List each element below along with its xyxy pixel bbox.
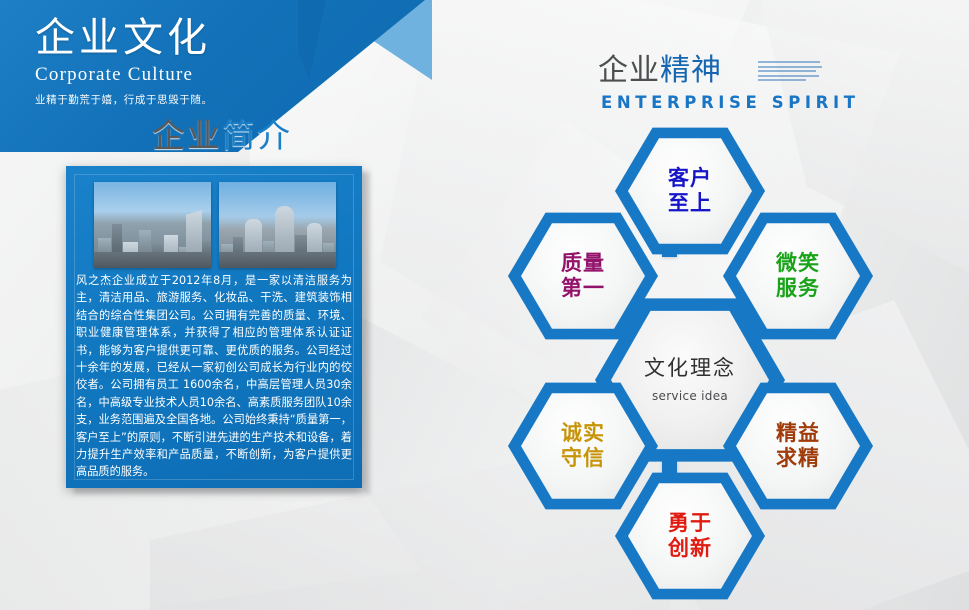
hex-upper-left-line1: 质量 — [561, 251, 605, 276]
hex-lower-right-line2: 求精 — [776, 446, 820, 471]
cityscape-photo-2 — [219, 182, 336, 268]
hex-bottom-line1: 勇于 — [668, 511, 712, 536]
corporate-culture-poster: 企业文化 Corporate Culture 业精于勤荒于嬉，行成于思毁于随。 … — [0, 0, 969, 610]
intro-title-prefix: 企业 — [152, 116, 222, 155]
hex-upper-left-line2: 第一 — [561, 276, 605, 301]
cityscape-photo-1 — [94, 182, 211, 268]
decorative-lines-icon — [758, 58, 824, 84]
hex-lower-left-line1: 诚实 — [561, 421, 605, 446]
header-title-cn: 企业文化 — [35, 14, 335, 62]
hex-node-upper-left[interactable]: 质量 第一 — [508, 210, 658, 342]
intro-body-text: 风之杰企业成立于2012年8月，是一家以清洁服务为主，清洁用品、旅游服务、化妆品… — [76, 272, 352, 481]
intro-title-suffix: 简介 — [222, 116, 292, 155]
intro-section-title: 企业简介 — [152, 116, 292, 156]
hex-center-label-cn: 文化理念 — [644, 355, 736, 381]
header-text-block: 企业文化 Corporate Culture 业精于勤荒于嬉，行成于思毁于随。 — [35, 14, 335, 107]
hex-node-bottom[interactable]: 勇于 创新 — [615, 470, 765, 602]
header-title-en: Corporate Culture — [35, 63, 335, 87]
spirit-heading-block: 企业精神 ENTERPRISE SPIRIT — [598, 52, 860, 114]
header-tagline: 业精于勤荒于嬉，行成于思毁于随。 — [35, 92, 335, 107]
spirit-title-en: ENTERPRISE SPIRIT — [601, 92, 860, 114]
honeycomb-diagram: 文化理念 service idea 客户 至上 质量 第一 微笑 — [495, 115, 969, 610]
hex-upper-right-line1: 微笑 — [776, 251, 820, 276]
hex-upper-right-line2: 服务 — [776, 276, 820, 301]
hex-node-upper-right[interactable]: 微笑 服务 — [723, 210, 873, 342]
hex-lower-right-line1: 精益 — [776, 421, 820, 446]
hex-bottom-line2: 创新 — [668, 536, 712, 561]
intro-photo-row — [94, 182, 336, 268]
hex-lower-left-line2: 守信 — [561, 446, 605, 471]
spirit-title-suffix: 精神 — [660, 53, 722, 88]
hex-center-label-en: service idea — [652, 387, 728, 405]
hex-top-line2: 至上 — [668, 191, 712, 216]
hex-top-line1: 客户 — [668, 166, 712, 191]
spirit-title-prefix: 企业 — [598, 53, 660, 88]
